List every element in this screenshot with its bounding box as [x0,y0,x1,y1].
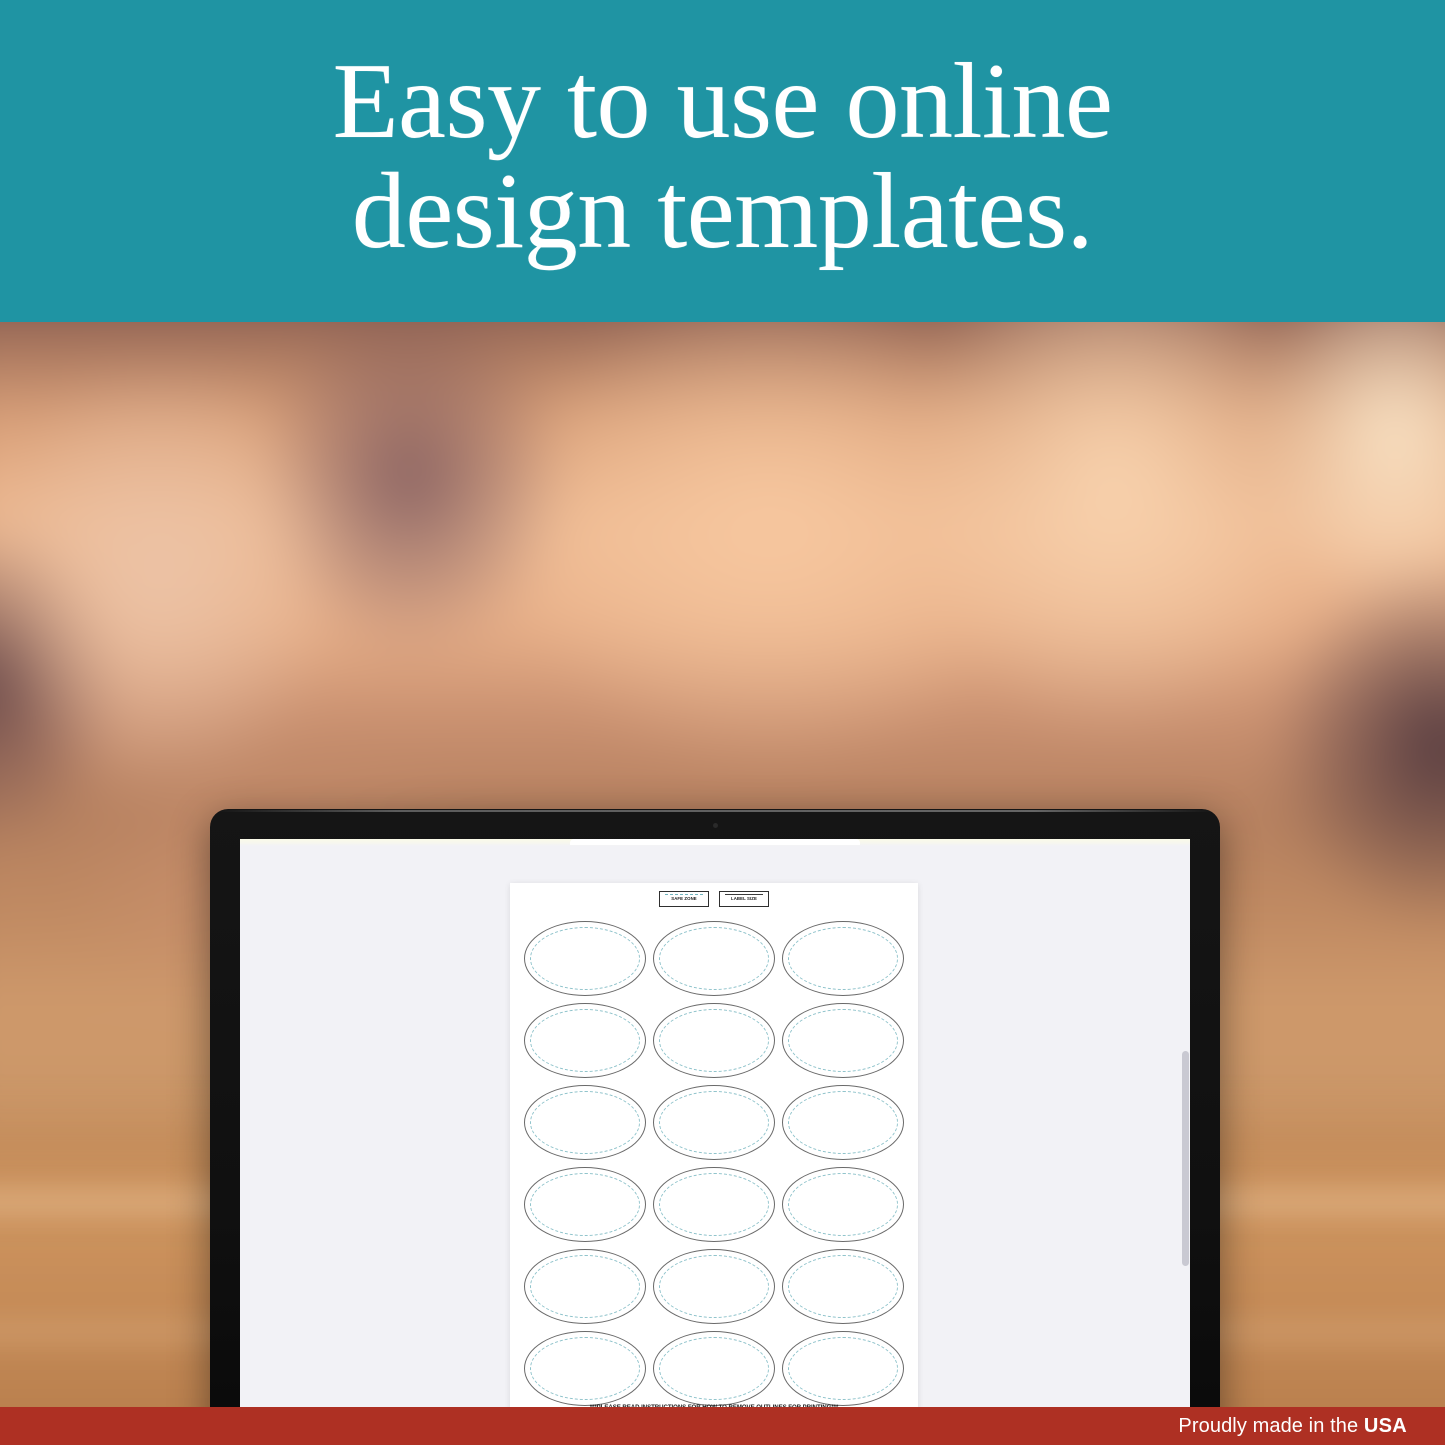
label-oval[interactable] [782,1167,904,1242]
safe-zone-outline [659,1337,769,1400]
legend-item-label-size: LABEL SIZE [719,891,769,907]
label-oval[interactable] [653,1085,775,1160]
legend-item-safe-zone: SAFE ZONE [659,891,709,907]
label-oval[interactable] [782,1085,904,1160]
safe-zone-outline [659,1255,769,1318]
safe-zone-outline [530,1337,640,1400]
top-banner: Easy to use online design templates. [0,0,1445,322]
made-in-usa-bold: USA [1364,1415,1407,1437]
safe-zone-outline [788,1337,898,1400]
label-oval[interactable] [782,921,904,996]
safe-zone-outline [788,927,898,990]
made-in-usa-text: Proudly made in the USA [1178,1415,1407,1438]
legend-label-label-size: LABEL SIZE [731,897,757,901]
browser-chrome-strip [240,839,1190,846]
label-oval[interactable] [653,1331,775,1406]
label-oval[interactable] [653,1249,775,1324]
legend: SAFE ZONE LABEL SIZE [510,883,918,907]
label-oval[interactable] [524,1085,646,1160]
safe-zone-outline [530,1173,640,1236]
safe-zone-outline [530,1009,640,1072]
dashed-line-icon [665,894,703,895]
safe-zone-outline [659,1091,769,1154]
label-oval[interactable] [524,1331,646,1406]
laptop-lid: SAFE ZONE LABEL SIZE [210,809,1220,1407]
label-template-sheet[interactable]: SAFE ZONE LABEL SIZE [510,883,918,1407]
safe-zone-outline [788,1173,898,1236]
label-oval[interactable] [524,921,646,996]
browser-tab[interactable] [570,839,860,845]
label-oval[interactable] [653,1003,775,1078]
webcam-icon [713,823,718,828]
safe-zone-outline [530,1255,640,1318]
safe-zone-outline [530,1091,640,1154]
label-oval[interactable] [782,1331,904,1406]
headline: Easy to use online design templates. [333,47,1113,275]
safe-zone-outline [530,927,640,990]
label-oval[interactable] [782,1003,904,1078]
label-oval[interactable] [653,1167,775,1242]
safe-zone-outline [659,1009,769,1072]
legend-label-safe-zone: SAFE ZONE [671,897,697,901]
label-oval[interactable] [524,1249,646,1324]
safe-zone-outline [659,1173,769,1236]
solid-line-icon [725,894,763,895]
label-oval[interactable] [653,921,775,996]
made-in-prefix: Proudly made in the [1178,1415,1363,1437]
vertical-scrollbar[interactable] [1181,846,1190,1407]
safe-zone-outline [659,927,769,990]
product-image: SAFE ZONE LABEL SIZE [0,0,1445,1445]
safe-zone-outline [788,1091,898,1154]
scrollbar-thumb[interactable] [1182,1051,1189,1266]
safe-zone-outline [788,1255,898,1318]
label-oval[interactable] [524,1003,646,1078]
bottom-banner: Proudly made in the USA [0,1407,1445,1445]
label-oval[interactable] [782,1249,904,1324]
label-grid [524,921,904,1406]
laptop-screen: SAFE ZONE LABEL SIZE [240,839,1190,1407]
safe-zone-outline [788,1009,898,1072]
label-oval[interactable] [524,1167,646,1242]
background-photo: SAFE ZONE LABEL SIZE [0,322,1445,1407]
laptop: SAFE ZONE LABEL SIZE [210,809,1220,1407]
